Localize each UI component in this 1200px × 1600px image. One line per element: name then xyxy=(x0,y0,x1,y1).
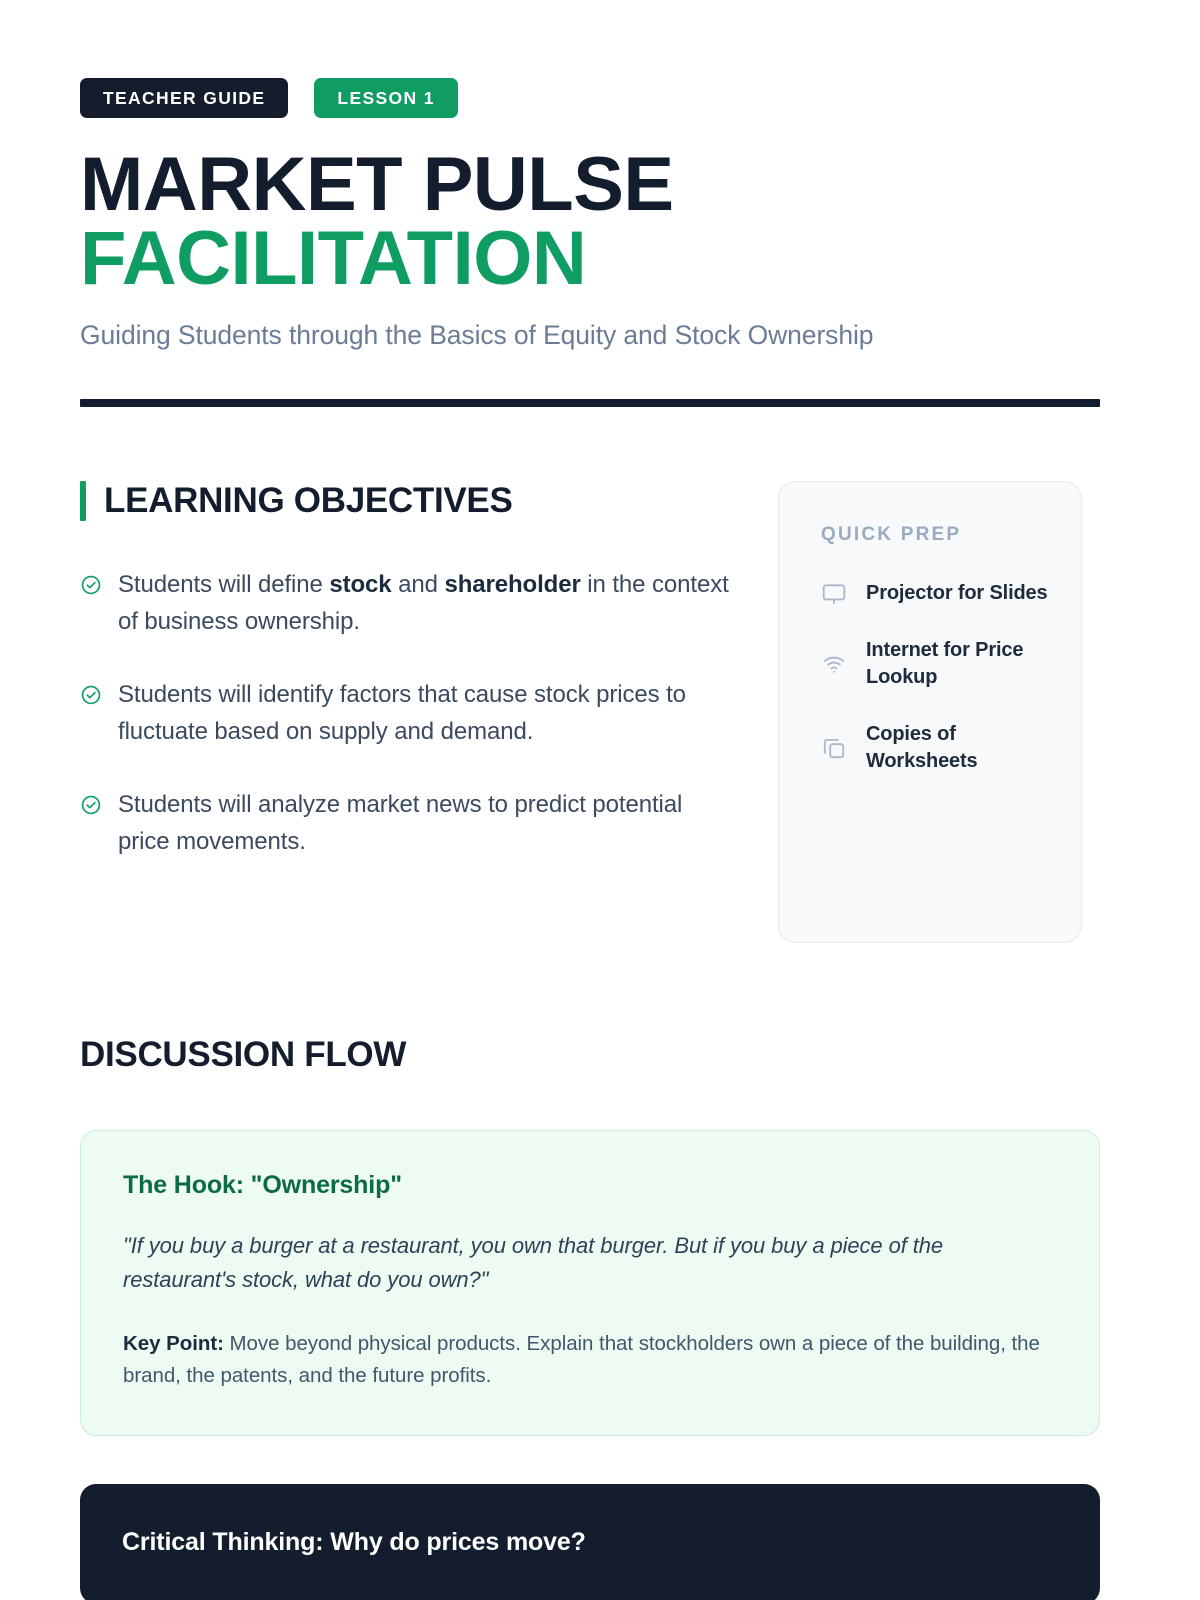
quick-prep-column: QUICK PREP Projector for Slides xyxy=(778,481,1082,943)
page-title-line-1: MARKET PULSE xyxy=(80,148,1100,222)
objective-item: Students will analyze market news to pre… xyxy=(80,787,740,860)
discussion-flow-title: DISCUSSION FLOW xyxy=(80,1035,1100,1075)
header-divider xyxy=(80,399,1100,407)
objective-term-stock: stock xyxy=(329,571,391,598)
objective-term-shareholder: shareholder xyxy=(444,571,580,598)
hook-card-key-point: Key Point: Move beyond physical products… xyxy=(123,1328,1057,1392)
quick-prep-item-worksheets: Copies of Worksheets xyxy=(821,721,1053,775)
learning-objectives-title: LEARNING OBJECTIVES xyxy=(104,481,513,521)
content-area: LEARNING OBJECTIVES Students will define… xyxy=(80,481,1100,943)
objective-item: Students will identify factors that caus… xyxy=(80,677,740,750)
critical-thinking-card-title: Critical Thinking: Why do prices move? xyxy=(122,1528,1058,1557)
badge-teacher-guide: TEACHER GUIDE xyxy=(80,78,288,118)
objective-text-mid: and xyxy=(392,571,445,598)
badge-row: TEACHER GUIDE LESSON 1 xyxy=(80,78,1100,118)
hook-card: The Hook: "Ownership" "If you buy a burg… xyxy=(80,1130,1100,1436)
wifi-icon xyxy=(821,651,847,677)
objective-item: Students will define stock and sharehold… xyxy=(80,567,740,640)
accent-bar xyxy=(80,481,86,521)
critical-thinking-card: Critical Thinking: Why do prices move? xyxy=(80,1484,1100,1600)
quick-prep-item-label: Projector for Slides xyxy=(866,580,1048,607)
objective-text: Students will identify factors that caus… xyxy=(118,677,740,750)
quick-prep-card: QUICK PREP Projector for Slides xyxy=(778,481,1082,943)
objective-text: Students will define stock and sharehold… xyxy=(118,567,740,640)
objectives-list: Students will define stock and sharehold… xyxy=(80,567,740,860)
quick-prep-item-label: Internet for Price Lookup xyxy=(866,637,1053,691)
quick-prep-item-internet: Internet for Price Lookup xyxy=(821,637,1053,691)
objective-text: Students will analyze market news to pre… xyxy=(118,787,740,860)
quick-prep-item-projector: Projector for Slides xyxy=(821,580,1053,607)
monitor-icon xyxy=(821,581,847,607)
learning-objectives-heading: LEARNING OBJECTIVES xyxy=(80,481,740,521)
circle-check-icon xyxy=(80,574,102,596)
badge-lesson-number: LESSON 1 xyxy=(314,78,457,118)
circle-check-icon xyxy=(80,684,102,706)
quick-prep-item-label: Copies of Worksheets xyxy=(866,721,1053,775)
page-title-line-2: FACILITATION xyxy=(80,222,1100,296)
hook-card-quote: "If you buy a burger at a restaurant, yo… xyxy=(123,1229,1057,1296)
key-point-label: Key Point: xyxy=(123,1332,224,1355)
objectives-column: LEARNING OBJECTIVES Students will define… xyxy=(80,481,740,860)
circle-check-icon xyxy=(80,794,102,816)
teacher-guide-page: TEACHER GUIDE LESSON 1 MARKET PULSE FACI… xyxy=(0,0,1200,1600)
hook-card-title: The Hook: "Ownership" xyxy=(123,1171,1057,1200)
copy-icon xyxy=(821,735,847,761)
key-point-text: Move beyond physical products. Explain t… xyxy=(123,1332,1040,1387)
page-subtitle: Guiding Students through the Basics of E… xyxy=(80,320,1100,351)
quick-prep-label: QUICK PREP xyxy=(821,524,1053,546)
objective-text-pre: Students will define xyxy=(118,571,329,598)
page-title: MARKET PULSE FACILITATION xyxy=(80,148,1100,295)
